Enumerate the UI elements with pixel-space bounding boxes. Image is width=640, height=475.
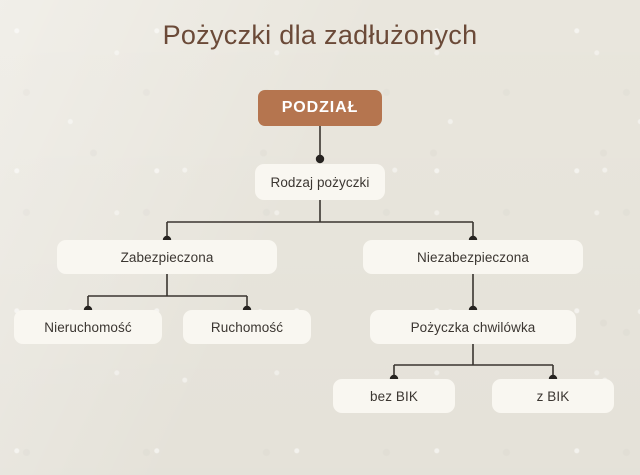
node-podzial[interactable]: PODZIAŁ <box>258 90 382 126</box>
node-pozyczka-chwilowka[interactable]: Pożyczka chwilówka <box>370 310 576 344</box>
node-ruchomosc[interactable]: Ruchomość <box>183 310 311 344</box>
node-niezabezpieczona[interactable]: Niezabezpieczona <box>363 240 583 274</box>
node-bez-bik[interactable]: bez BIK <box>333 379 455 413</box>
node-z-bik[interactable]: z BIK <box>492 379 614 413</box>
node-rodzaj-pozyczki[interactable]: Rodzaj pożyczki <box>255 164 385 200</box>
node-nieruchomosc[interactable]: Nieruchomość <box>14 310 162 344</box>
node-zabezpieczona[interactable]: Zabezpieczona <box>57 240 277 274</box>
page-title: Pożyczki dla zadłużonych <box>0 20 640 51</box>
edge-dot-kind <box>316 155 324 163</box>
diagram-canvas: Pożyczki dla zadłużonych <box>0 0 640 475</box>
